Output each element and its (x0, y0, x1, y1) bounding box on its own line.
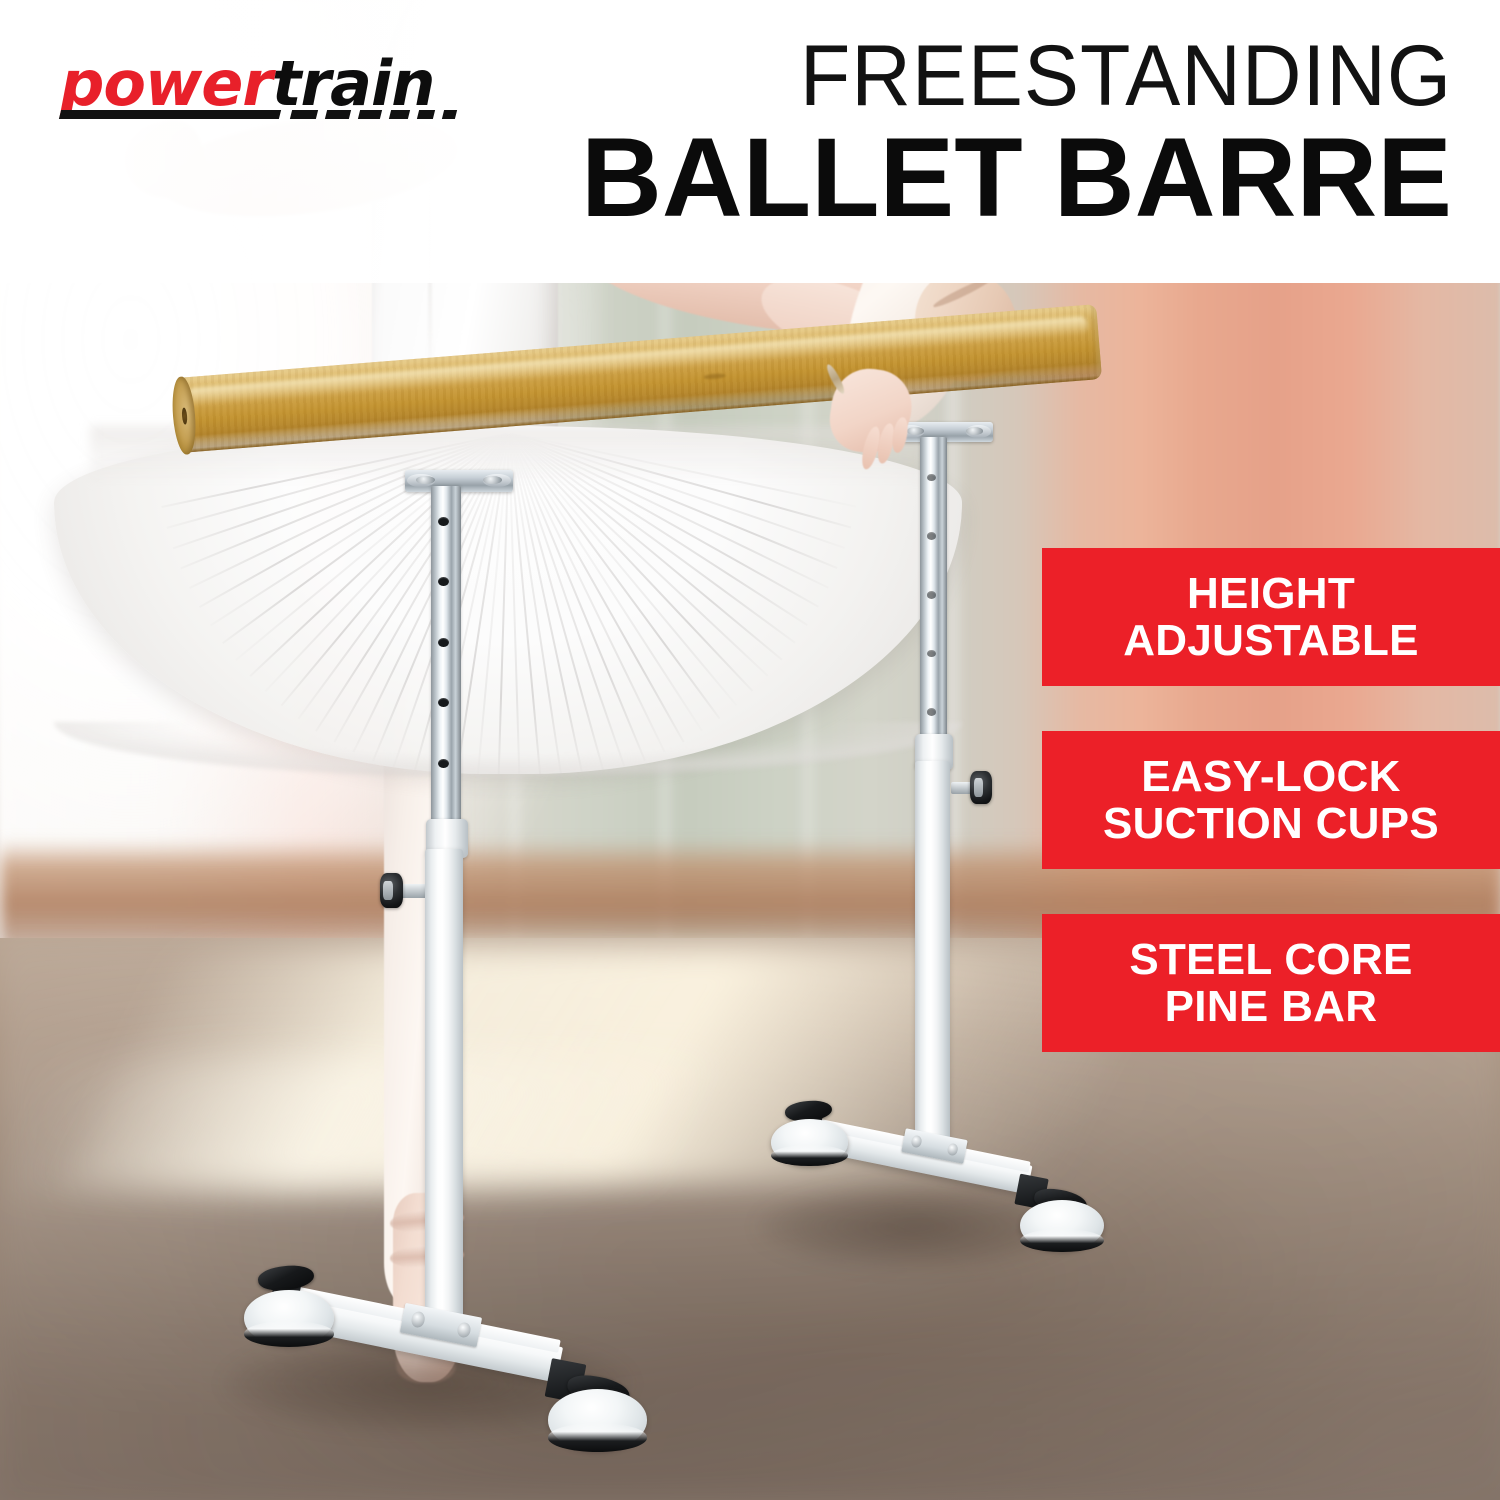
logo-rule-segment (59, 110, 281, 119)
logo-rule-segment (358, 110, 382, 119)
powertrain-logo[interactable]: powertrain (60, 55, 460, 121)
logo-rule-segment (389, 110, 410, 119)
feature-badge-label: STEEL CORE PINE BAR (1129, 936, 1412, 1030)
logo-wordmark: powertrain (60, 55, 460, 114)
feature-badge-label: HEIGHT ADJUSTABLE (1123, 570, 1419, 664)
feature-badge-label: EASY-LOCK SUCTION CUPS (1103, 753, 1439, 847)
feature-badge-easy-lock-suction-cups[interactable]: EASY-LOCK SUCTION CUPS (1042, 731, 1500, 869)
logo-rule-segment (417, 110, 435, 119)
logo-rule-segment (442, 110, 457, 119)
product-poster: powertrain FREESTANDING BALLET BARRE HEI… (0, 0, 1500, 1500)
feature-badge-steel-core-pine-bar[interactable]: STEEL CORE PINE BAR (1042, 914, 1500, 1052)
logo-underline (60, 110, 452, 121)
product-title-line2: BALLET BARRE (581, 122, 1452, 234)
product-title-line1: FREESTANDING (616, 34, 1452, 118)
feature-badge-height-adjustable[interactable]: HEIGHT ADJUSTABLE (1042, 548, 1500, 686)
product-title: FREESTANDING BALLET BARRE (581, 34, 1452, 234)
logo-rule-segment (325, 110, 351, 119)
logo-rule-segment (290, 110, 318, 119)
